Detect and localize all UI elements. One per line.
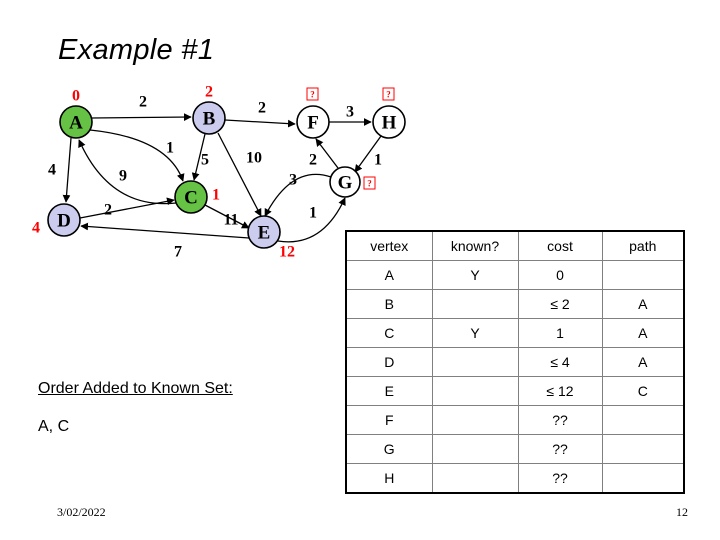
- edge-d-c: [80, 200, 174, 218]
- table-row: H ??: [346, 464, 684, 494]
- edge-weight-d-c: 2: [104, 202, 112, 219]
- table-row: A Y 0: [346, 261, 684, 290]
- edge-weight-e-d: 7: [174, 244, 182, 261]
- cell-vertex: E: [346, 377, 432, 406]
- node-f-distance: ?: [310, 90, 315, 100]
- cell-path: C: [602, 377, 684, 406]
- node-g-label: G: [338, 173, 353, 194]
- edge-weight-h-g: 1: [374, 152, 382, 169]
- cell-cost: ??: [518, 435, 602, 464]
- edge-g-e: [265, 174, 331, 216]
- cell-known: [432, 406, 518, 435]
- node-h-distance: ?: [386, 90, 391, 100]
- cell-known: [432, 377, 518, 406]
- table-header-cost: cost: [518, 231, 602, 261]
- cell-cost: ≤ 12: [518, 377, 602, 406]
- edge-weight-b-c: 5: [201, 152, 209, 169]
- edge-weight-b-e: 10: [246, 150, 262, 167]
- footer-date: 3/02/2022: [57, 505, 106, 520]
- edge-weight-a-b: 2: [139, 94, 147, 111]
- cell-cost: ≤ 2: [518, 290, 602, 319]
- order-added-heading: Order Added to Known Set:: [38, 380, 233, 398]
- cell-known: [432, 290, 518, 319]
- table-header-row: vertex known? cost path: [346, 231, 684, 261]
- cell-vertex: C: [346, 319, 432, 348]
- order-added-value: A, C: [38, 418, 69, 436]
- page-title: Example #1: [58, 34, 214, 67]
- node-d-distance: 4: [32, 220, 40, 237]
- graph-node-c[interactable]: C 1: [175, 181, 220, 213]
- node-c-label: C: [184, 188, 198, 209]
- cell-vertex: F: [346, 406, 432, 435]
- graph-node-h[interactable]: H ?: [373, 88, 405, 138]
- cell-known: Y: [432, 261, 518, 290]
- cell-known: [432, 435, 518, 464]
- edge-weight-c-e: 11: [223, 212, 238, 229]
- node-g-distance: ?: [367, 179, 372, 189]
- edge-c-a: [79, 140, 176, 204]
- edge-weight-a-c: 1: [166, 140, 174, 157]
- cell-cost: ??: [518, 406, 602, 435]
- table-row: B ≤ 2 A: [346, 290, 684, 319]
- edge-a-d: [66, 138, 71, 202]
- cell-cost: 1: [518, 319, 602, 348]
- table-header-known: known?: [432, 231, 518, 261]
- cell-known: [432, 348, 518, 377]
- cell-cost: 0: [518, 261, 602, 290]
- cell-path: [602, 261, 684, 290]
- footer-page-number: 12: [676, 505, 688, 520]
- table-row: F ??: [346, 406, 684, 435]
- graph-node-b[interactable]: B 2: [193, 84, 225, 135]
- edge-a-b: [92, 117, 191, 118]
- node-f-label: F: [307, 113, 319, 134]
- edge-weight-c-a: 9: [119, 168, 127, 185]
- table-row: E ≤ 12 C: [346, 377, 684, 406]
- graph-node-d[interactable]: D 4: [32, 204, 80, 237]
- cell-cost: ≤ 4: [518, 348, 602, 377]
- node-d-label: D: [57, 211, 71, 232]
- cell-path: [602, 435, 684, 464]
- cell-vertex: B: [346, 290, 432, 319]
- node-b-distance: 2: [205, 84, 213, 101]
- edge-weight-e-g: 1: [309, 205, 317, 222]
- cell-path: [602, 464, 684, 494]
- slide-canvas: Example #1: [0, 0, 720, 540]
- cell-path: A: [602, 319, 684, 348]
- node-e-label: E: [258, 223, 271, 244]
- graph-node-f[interactable]: F ?: [297, 88, 329, 138]
- table-row: C Y 1 A: [346, 319, 684, 348]
- table-header-path: path: [602, 231, 684, 261]
- node-h-label: H: [382, 113, 397, 134]
- edge-weight-f-h: 3: [346, 104, 354, 121]
- edge-b-f: [225, 120, 295, 124]
- cell-path: A: [602, 290, 684, 319]
- node-a-label: A: [69, 113, 83, 134]
- cell-path: [602, 406, 684, 435]
- edge-weight-g-f: 2: [309, 152, 317, 169]
- table-row: D ≤ 4 A: [346, 348, 684, 377]
- cell-cost: ??: [518, 464, 602, 494]
- cell-path: A: [602, 348, 684, 377]
- table-row: G ??: [346, 435, 684, 464]
- graph-node-a[interactable]: A 0: [60, 88, 92, 139]
- vertex-state-table: vertex known? cost path A Y 0 B ≤ 2 A C …: [345, 230, 685, 494]
- cell-vertex: A: [346, 261, 432, 290]
- cell-vertex: H: [346, 464, 432, 494]
- table-header-vertex: vertex: [346, 231, 432, 261]
- edge-weight-a-d: 4: [48, 162, 56, 179]
- edge-g-f: [316, 139, 338, 168]
- cell-vertex: G: [346, 435, 432, 464]
- graph-node-g[interactable]: G ?: [330, 167, 375, 197]
- cell-known: [432, 464, 518, 494]
- edge-b-e: [218, 133, 261, 216]
- graph-node-e[interactable]: E 12: [248, 216, 295, 261]
- node-a-distance: 0: [72, 88, 80, 105]
- node-e-distance: 12: [279, 244, 295, 261]
- node-b-label: B: [203, 109, 216, 130]
- cell-vertex: D: [346, 348, 432, 377]
- edge-weight-g-e: 3: [289, 172, 297, 189]
- cell-known: Y: [432, 319, 518, 348]
- node-c-distance: 1: [212, 187, 220, 204]
- edge-weight-b-f: 2: [258, 100, 266, 117]
